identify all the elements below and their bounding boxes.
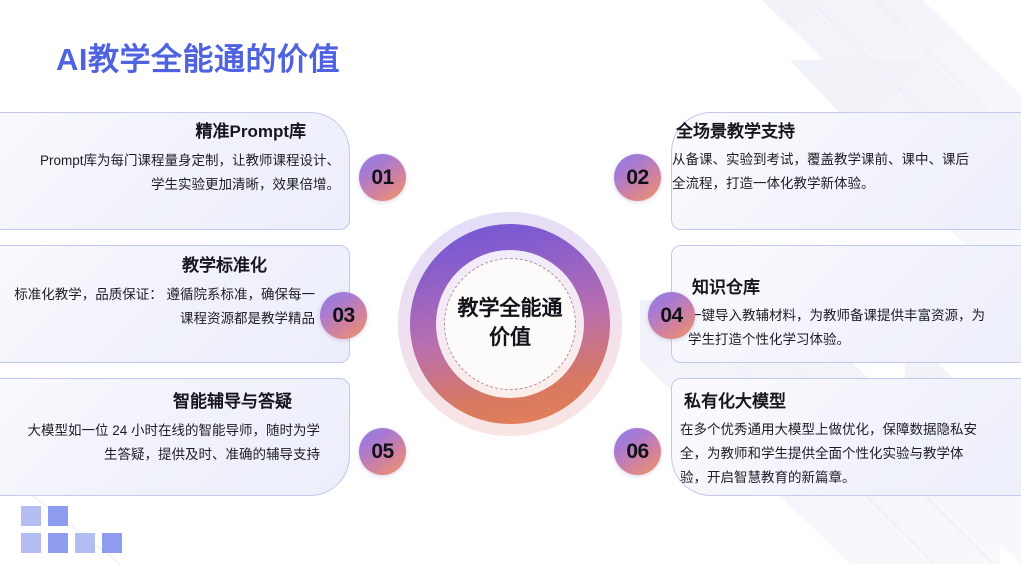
page-title: AI教学全能通的价值: [56, 34, 340, 79]
item-title-05: 智能辅导与答疑: [20, 392, 320, 412]
item-title-02: 全场景教学支持: [672, 122, 982, 142]
number-badge-04[interactable]: 04: [648, 292, 695, 339]
decorative-square: [21, 506, 41, 526]
center-title-line-2: 价值: [489, 325, 531, 352]
decorative-square: [75, 533, 95, 553]
decorative-square: [48, 506, 68, 526]
item-title-04: 知识仓库: [688, 278, 988, 298]
decorative-square: [21, 533, 41, 553]
number-badge-01[interactable]: 01: [359, 154, 406, 201]
center-wheel: 教学全能通 价值: [398, 212, 622, 436]
item-text-04: 知识仓库 一键导入教辅材料，为教师备课提供丰富资源，为学生打造个性化学习体验。: [688, 278, 988, 352]
item-text-06: 私有化大模型 在多个优秀通用大模型上做优化，保障数据隐私安全，为教师和学生提供全…: [680, 392, 985, 489]
number-badge-02[interactable]: 02: [614, 154, 661, 201]
decorative-squares-row-2: [21, 533, 122, 553]
item-title-01: 精准Prompt库: [40, 122, 340, 142]
decorative-squares: [21, 499, 122, 553]
item-desc-03: 标准化教学，品质保证： 遵循院系标准，确保每一课程资源都是教学精品: [10, 283, 315, 330]
item-desc-02: 从备课、实验到考试，覆盖教学课前、课中、课后全流程，打造一体化教学新体验。: [672, 148, 982, 195]
item-text-03: 教学标准化 标准化教学，品质保证： 遵循院系标准，确保每一课程资源都是教学精品: [10, 256, 315, 331]
number-badge-06[interactable]: 06: [614, 428, 661, 475]
decorative-square: [102, 533, 122, 553]
item-text-01: 精准Prompt库 Prompt库为每门课程量身定制，让教师课程设计、学生实验更…: [40, 122, 340, 197]
item-desc-05: 大模型如一位 24 小时在线的智能导师，随时为学生答疑，提供及时、准确的辅导支持: [20, 419, 320, 466]
item-desc-01: Prompt库为每门课程量身定制，让教师课程设计、学生实验更加清晰，效果倍增。: [40, 149, 340, 196]
decorative-squares-row-1: [21, 506, 122, 526]
center-core: 教学全能通 价值: [444, 258, 576, 390]
item-title-06: 私有化大模型: [680, 392, 985, 412]
decorative-square: [48, 533, 68, 553]
item-title-03: 教学标准化: [10, 256, 315, 276]
item-text-02: 全场景教学支持 从备课、实验到考试，覆盖教学课前、课中、课后全流程，打造一体化教…: [672, 122, 982, 196]
item-desc-06: 在多个优秀通用大模型上做优化，保障数据隐私安全，为教师和学生提供全面个性化实验与…: [680, 418, 985, 489]
center-title-line-1: 教学全能通: [458, 296, 563, 323]
number-badge-03[interactable]: 03: [320, 292, 367, 339]
item-text-05: 智能辅导与答疑 大模型如一位 24 小时在线的智能导师，随时为学生答疑，提供及时…: [20, 392, 320, 467]
number-badge-05[interactable]: 05: [359, 428, 406, 475]
slide-canvas: AI教学全能通的价值 教学全能通 价值 精准Prompt库 Prompt库为每门…: [0, 0, 1021, 564]
item-desc-04: 一键导入教辅材料，为教师备课提供丰富资源，为学生打造个性化学习体验。: [688, 304, 988, 351]
